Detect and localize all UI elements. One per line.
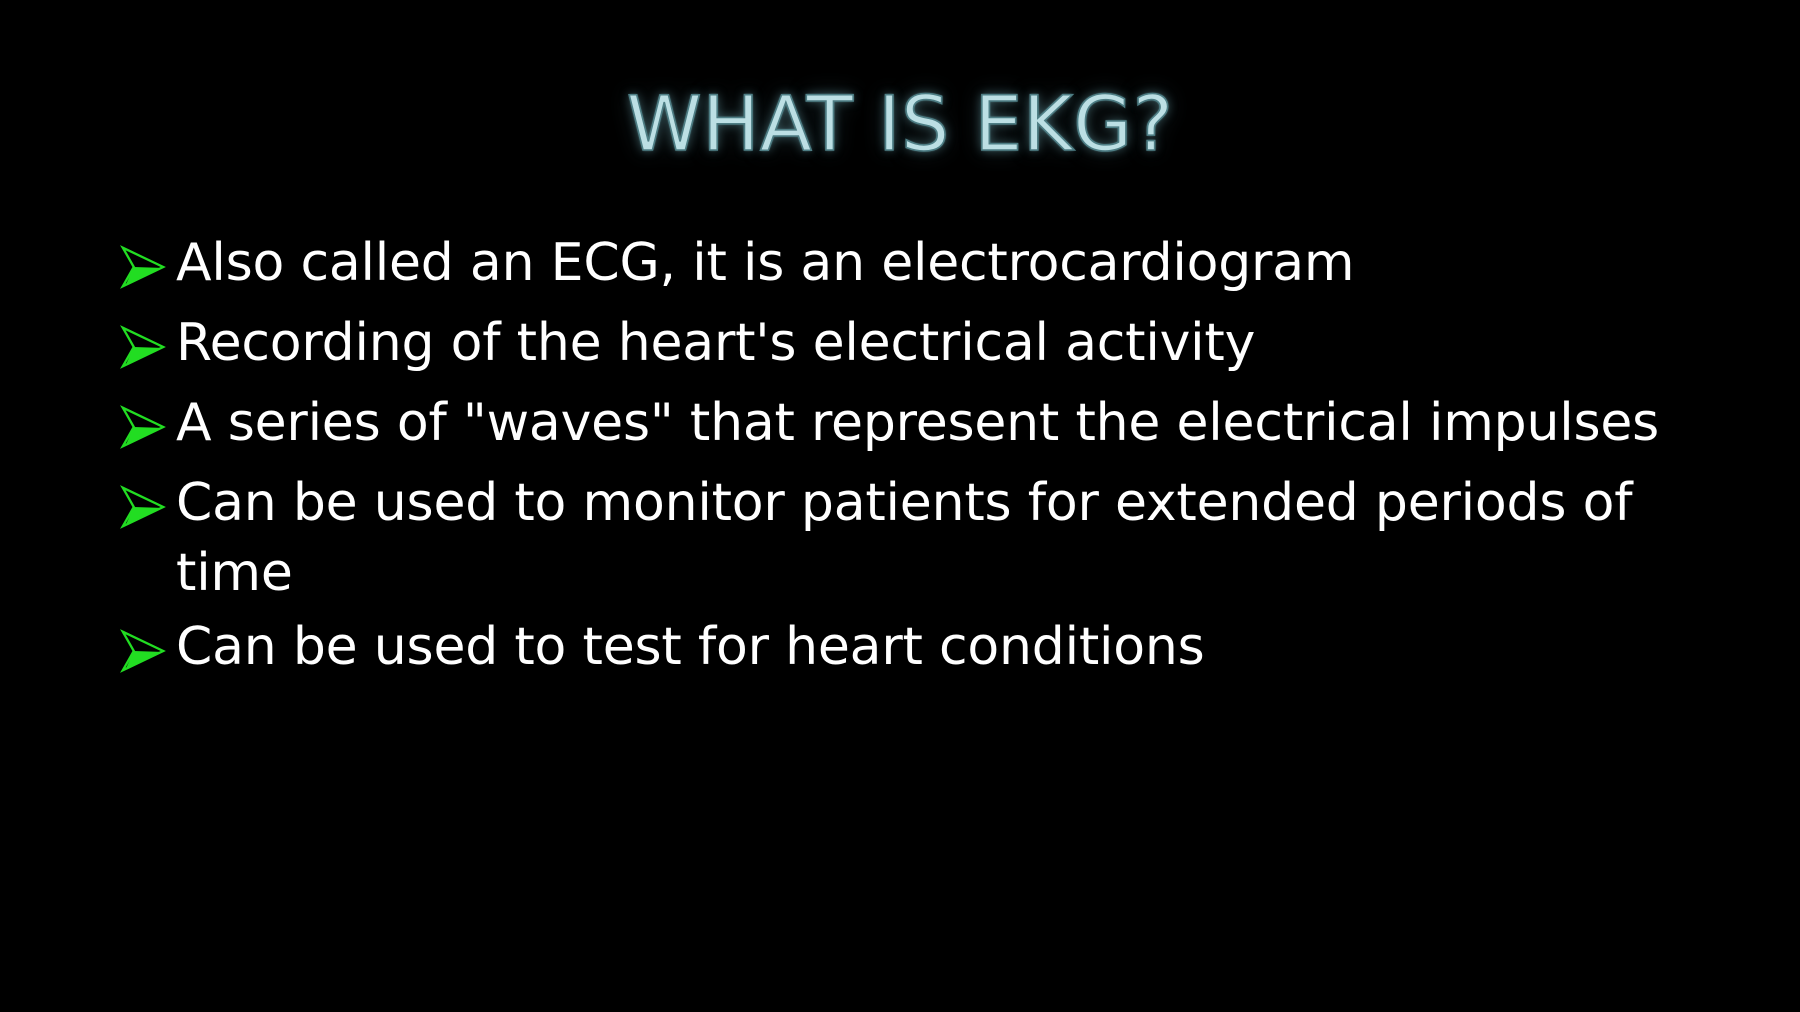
list-item-label: Can be used to test for heart conditions [176, 612, 1758, 682]
list-item[interactable]: Also called an ECG, it is an electrocard… [118, 228, 1758, 304]
green-arrowhead-bullet-icon [118, 314, 176, 384]
green-arrowhead-bullet-icon [118, 474, 176, 544]
list-item-label: Recording of the heart's electrical acti… [176, 308, 1758, 378]
page-title: WHAT IS EKG? [627, 86, 1174, 162]
list-item[interactable]: A series of "waves" that represent the e… [118, 388, 1758, 464]
green-arrowhead-bullet-icon [118, 394, 176, 464]
list-item-label: Can be used to monitor patients for exte… [176, 468, 1758, 608]
green-arrowhead-bullet-icon [118, 618, 176, 688]
list-item[interactable]: Recording of the heart's electrical acti… [118, 308, 1758, 384]
green-arrowhead-bullet-icon [118, 234, 176, 304]
list-item-label: Also called an ECG, it is an electrocard… [176, 228, 1758, 298]
slide-title-block: WHAT IS EKG? [0, 86, 1800, 162]
presentation-slide: WHAT IS EKG? Also called an ECG, it is a… [0, 0, 1800, 1012]
bullet-list: Also called an ECG, it is an electrocard… [118, 228, 1758, 692]
list-item[interactable]: Can be used to test for heart conditions [118, 612, 1758, 688]
list-item-label: A series of "waves" that represent the e… [176, 388, 1758, 458]
list-item[interactable]: Can be used to monitor patients for exte… [118, 468, 1758, 608]
